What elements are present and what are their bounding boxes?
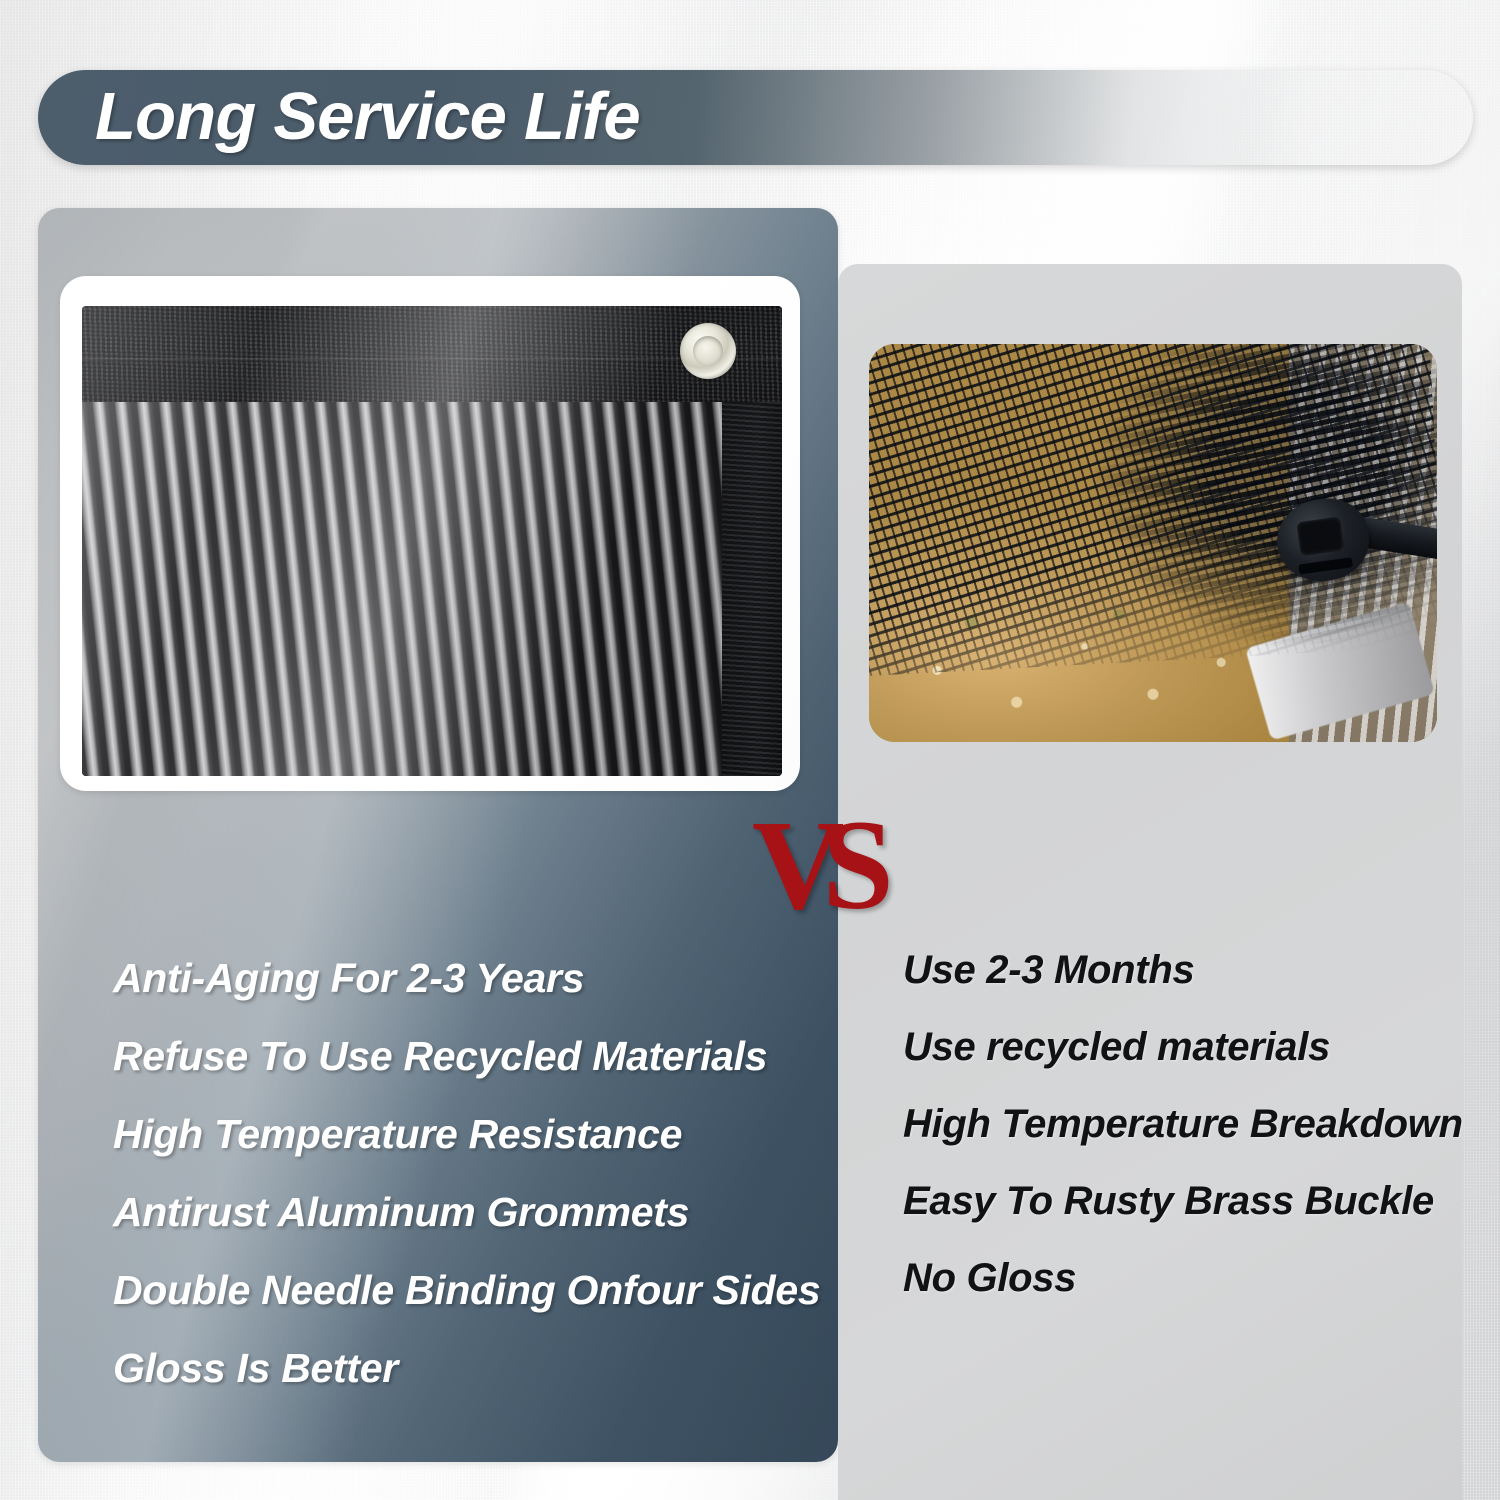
- list-item: Use 2-3 Months: [903, 948, 1473, 993]
- left-product-photo-frame: [60, 276, 800, 791]
- vs-badge: VS: [752, 806, 892, 926]
- list-item: Double Needle Binding Onfour Sides: [113, 1267, 803, 1314]
- shade-netting-dense-area: [1086, 344, 1437, 659]
- list-item: No Gloss: [903, 1256, 1473, 1301]
- right-product-photo: [869, 344, 1437, 742]
- list-item: Gloss Is Better: [113, 1345, 803, 1392]
- list-item: Use recycled materials: [903, 1025, 1473, 1070]
- list-item: Easy To Rusty Brass Buckle: [903, 1179, 1473, 1224]
- list-item: High Temperature Breakdown: [903, 1102, 1473, 1147]
- left-product-photo: [82, 306, 782, 776]
- list-item: Antirust Aluminum Grommets: [113, 1189, 803, 1236]
- list-item: Anti-Aging For 2-3 Years: [113, 955, 803, 1002]
- page-title: Long Service Life: [95, 77, 640, 154]
- right-feature-list: Use 2-3 Months Use recycled materials Hi…: [903, 948, 1473, 1333]
- aluminum-grommet-icon: [680, 323, 736, 379]
- left-feature-list: Anti-Aging For 2-3 Years Refuse To Use R…: [113, 955, 803, 1423]
- shade-cloth-gloss-highlight: [82, 402, 782, 776]
- header-banner: Long Service Life: [38, 70, 1473, 165]
- shade-cloth-top-binding: [82, 306, 782, 402]
- list-item: Refuse To Use Recycled Materials: [113, 1033, 803, 1080]
- list-item: High Temperature Resistance: [113, 1111, 803, 1158]
